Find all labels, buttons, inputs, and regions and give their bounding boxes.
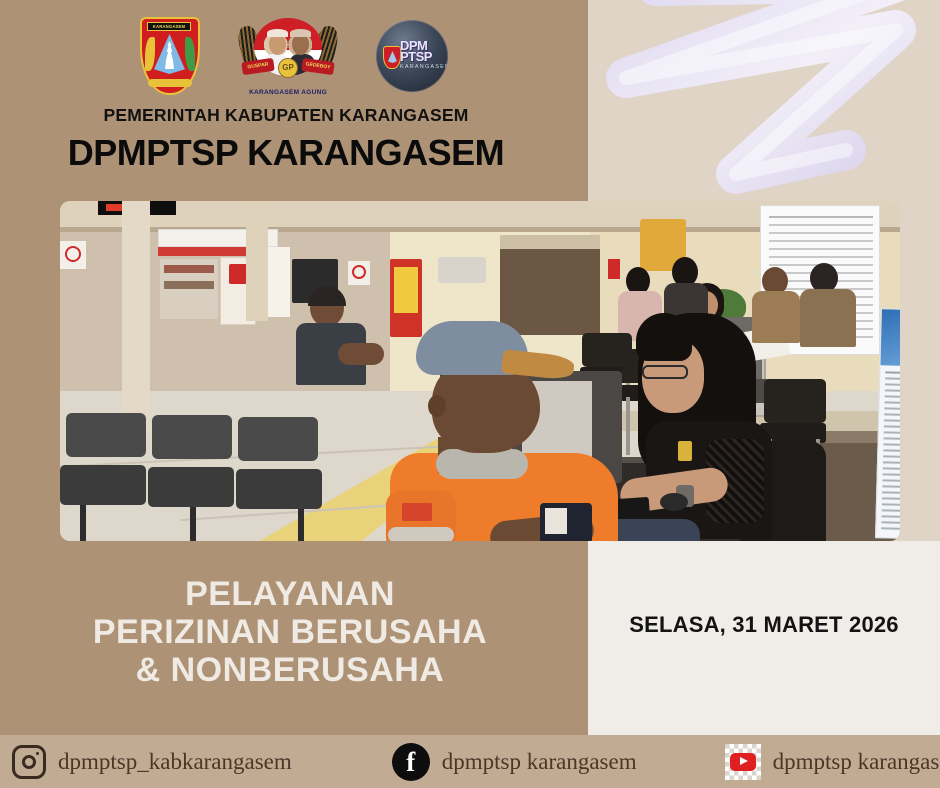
service-caption: PELAYANAN PERIZINAN BERUSAHA & NONBERUSA…	[0, 575, 580, 689]
instagram-handle: dpmptsp_kabkarangasem	[58, 749, 292, 775]
seated-person-left	[292, 289, 382, 389]
government-subtitle: PEMERINTAH KABUPATEN KARANGASEM	[0, 105, 572, 126]
agung-caption: KARANGASEM AGUNG	[240, 89, 336, 96]
dpm-logo-text: DPM PTSP	[400, 40, 446, 62]
logo-row: KARANGASEM GUSPAR GEDEBOY GP KARANGASEM …	[0, 10, 588, 102]
social-instagram[interactable]: dpmptsp_kabkarangasem	[12, 745, 292, 779]
service-date: SELASA, 31 MARET 2026	[588, 612, 940, 638]
dpm-logo-subtext: KARANGASEM	[400, 64, 444, 70]
crest-banner-text: KARANGASEM	[153, 24, 185, 29]
youtube-handle: dpmptsp karangasem	[773, 749, 940, 775]
instagram-icon[interactable]	[12, 745, 46, 779]
facebook-icon[interactable]	[392, 743, 430, 781]
dpmptsp-circle-logo-icon: DPM PTSP KARANGASEM	[376, 20, 448, 92]
page-title: DPMPTSP KARANGASEM	[0, 132, 572, 174]
caption-line-2: PERIZINAN BERUSAHA	[0, 613, 580, 651]
social-bar: dpmptsp_kabkarangasem dpmptsp karangasem…	[0, 735, 940, 788]
service-office-photo	[60, 201, 900, 541]
right-bottom-panel	[588, 541, 940, 735]
facebook-handle: dpmptsp karangasem	[442, 749, 637, 775]
visitor-man-foreground	[380, 321, 680, 541]
caption-line-3: & NONBERUSAHA	[0, 651, 580, 689]
waiting-bench	[60, 413, 360, 541]
social-facebook[interactable]: dpmptsp karangasem	[392, 743, 637, 781]
social-youtube[interactable]: dpmptsp karangasem	[725, 744, 940, 780]
agung-seal: GP	[278, 58, 298, 78]
youtube-icon[interactable]	[725, 744, 761, 780]
karangasem-agung-logo-icon: GUSPAR GEDEBOY GP KARANGASEM AGUNG	[240, 16, 336, 96]
caption-line-1: PELAYANAN	[0, 575, 580, 613]
poster-canvas: KARANGASEM GUSPAR GEDEBOY GP KARANGASEM …	[0, 0, 940, 788]
karangasem-regency-crest-icon: KARANGASEM	[140, 17, 200, 95]
